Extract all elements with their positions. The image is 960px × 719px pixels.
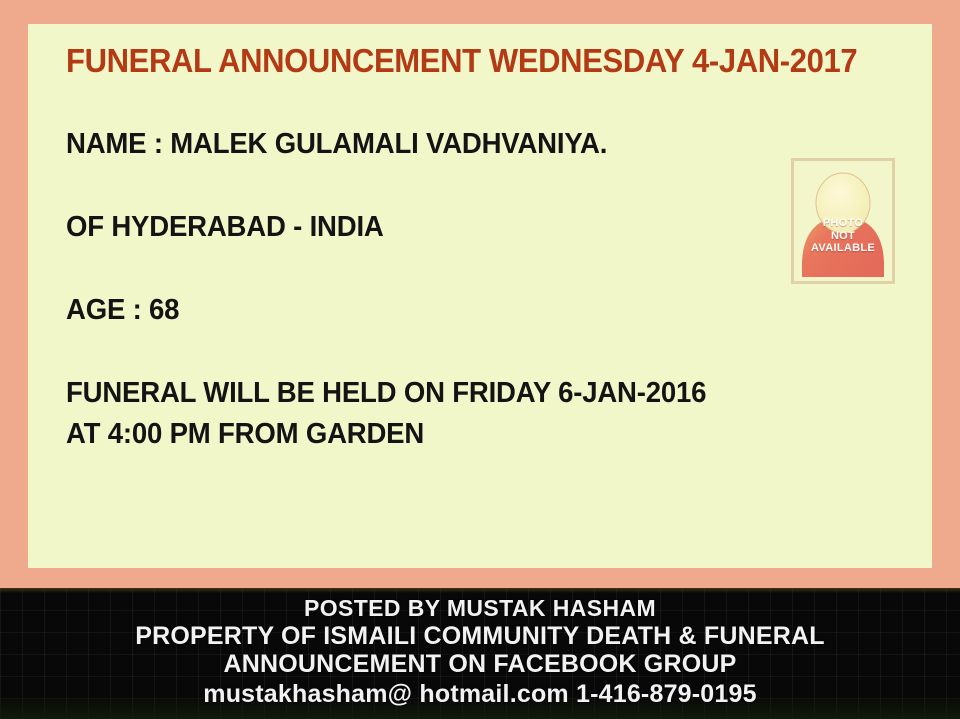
announcement-title: FUNERAL ANNOUNCEMENT WEDNESDAY 4-JAN-201… (66, 42, 857, 80)
announcement-funeral-time-line: AT 4:00 PM FROM GARDEN (66, 418, 750, 451)
credit-bar: POSTED BY MUSTAK HASHAM PROPERTY OF ISMA… (0, 588, 960, 719)
photo-placeholder-box: PHOTO NOT AVAILABLE (791, 158, 895, 284)
announcement-panel: FUNERAL ANNOUNCEMENT WEDNESDAY 4-JAN-201… (28, 24, 932, 568)
credit-lines: POSTED BY MUSTAK HASHAM PROPERTY OF ISMA… (0, 588, 960, 710)
credit-contact-line: mustakhasham@ hotmail.com 1-416-879-0195 (0, 678, 960, 710)
credit-group-line: ANNOUNCEMENT ON FACEBOOK GROUP (0, 650, 960, 678)
person-silhouette-icon (794, 161, 892, 281)
credit-property-line: PROPERTY OF ISMAILI COMMUNITY DEATH & FU… (0, 622, 960, 650)
credit-posted-by: POSTED BY MUSTAK HASHAM (0, 594, 960, 622)
announcement-funeral-date-line: FUNERAL WILL BE HELD ON FRIDAY 6-JAN-201… (66, 377, 750, 410)
funeral-announcement-poster: FUNERAL ANNOUNCEMENT WEDNESDAY 4-JAN-201… (0, 0, 960, 719)
announcement-age-line: AGE : 68 (66, 294, 750, 327)
announcement-body: NAME : MALEK GULAMALI VADHVANIYA. OF HYD… (66, 128, 786, 451)
announcement-origin-line: OF HYDERABAD - INDIA (66, 211, 750, 244)
announcement-name-line: NAME : MALEK GULAMALI VADHVANIYA. (66, 128, 750, 161)
